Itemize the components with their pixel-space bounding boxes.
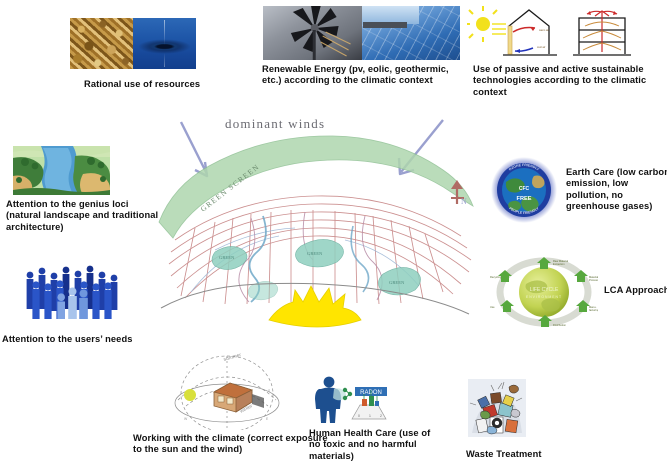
genius-loci-image: [13, 146, 110, 195]
users-needs-image: [22, 263, 132, 319]
svg-text:Recycling: Recycling: [490, 275, 502, 279]
renewable-energy-caption: Renewable Energy (pv, eolic, geothermic,…: [262, 64, 467, 87]
cfc-free-text-line1: CFC: [519, 186, 530, 192]
water-droplet-ripple-icon: [133, 18, 196, 69]
svg-text:ENVIRONMENT: ENVIRONMENT: [526, 295, 562, 299]
waste-treatment-caption: Waste Treatment: [466, 449, 586, 460]
svg-text:cool air: cool air: [537, 45, 545, 49]
svg-text:Distribution: Distribution: [553, 323, 567, 327]
green-park-patches: [212, 239, 421, 299]
svg-text:1: 1: [369, 414, 371, 418]
dry-soil-texture-icon: [70, 18, 133, 69]
svg-text:Use: Use: [490, 305, 495, 309]
sun-burst-icon: [269, 286, 361, 327]
users-needs-caption: Attention to the users’ needs: [2, 334, 177, 345]
central-urban-masterplan-sketch: dominant winds GREEN SCREEN: [155, 100, 475, 335]
passive-active-technologies-image: warm air cool air: [467, 4, 637, 60]
green-screen-belt: [159, 136, 473, 238]
renewable-energy-image: [263, 6, 460, 60]
svg-text:GREEN: GREEN: [307, 251, 323, 256]
passive-active-technologies-caption: Use of passive and active sustainable te…: [473, 64, 667, 98]
lca-approach-image: LIFE CYCLE ENVIRONMENT Raw MaterialExtra…: [490, 256, 598, 328]
rational-use-of-resources-image: [70, 18, 196, 69]
genius-loci-caption: Attention to the genius loci (natural la…: [6, 199, 166, 233]
svg-text:GREEN: GREEN: [389, 280, 405, 285]
human-health-care-caption: Human Health Care (use of no toxic and n…: [309, 428, 439, 462]
svg-text:Processing: Processing: [589, 278, 598, 282]
svg-text:W: W: [184, 417, 188, 421]
svg-text:GREEN: GREEN: [219, 255, 235, 260]
summer-label: summer: [223, 352, 242, 363]
svg-text:Extraction: Extraction: [553, 262, 565, 266]
working-with-the-climate-image: summer winter WES: [168, 350, 286, 430]
earth-care-image: CFC FREE OZONE FRIENDLY PEOPLE FRIENDLY: [490, 156, 558, 224]
svg-text:E: E: [266, 417, 269, 421]
working-with-the-climate-caption: Working with the climate (correct exposu…: [133, 433, 333, 456]
svg-text:2: 2: [380, 414, 382, 418]
wind-arrow-left-icon: [181, 122, 207, 176]
svg-text:facturing: facturing: [589, 308, 598, 312]
svg-text:warm air: warm air: [539, 28, 549, 32]
cfc-free-text-line2: FREE: [517, 196, 532, 202]
rational-use-of-resources-caption: Rational use of resources: [84, 79, 264, 90]
windmill-icon: [263, 6, 362, 60]
solar-panel-array-icon: [362, 6, 461, 60]
human-health-care-image: RADON 0 1 2: [312, 375, 392, 425]
waste-treatment-image: [468, 379, 526, 437]
dominant-winds-label: dominant winds: [225, 116, 325, 131]
sun-icon: [467, 6, 506, 42]
svg-text:LIFE CYCLE: LIFE CYCLE: [530, 287, 559, 293]
earth-care-caption: Earth Care (low carbon emission, low pol…: [566, 167, 667, 213]
lca-approach-caption: LCA Approach: [604, 285, 667, 296]
north-label: N: [461, 197, 467, 206]
svg-text:0: 0: [358, 414, 360, 418]
